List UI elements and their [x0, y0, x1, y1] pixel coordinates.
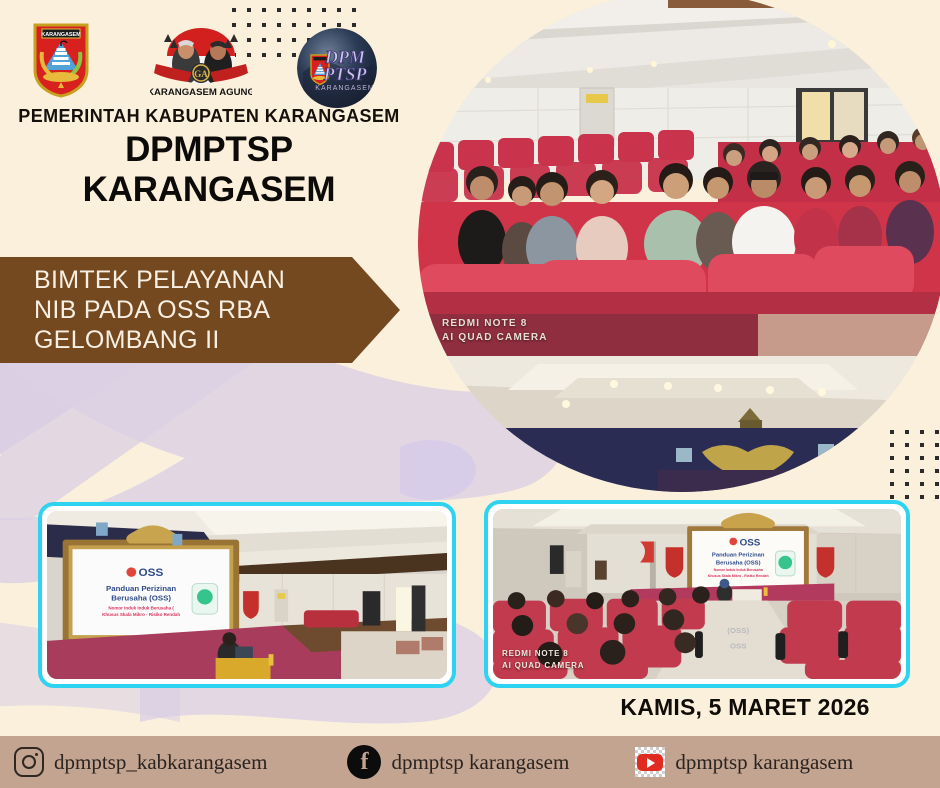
event-date: KAMIS, 5 MARET 2026 [560, 694, 930, 721]
svg-text:OSS: OSS [740, 537, 761, 548]
organization-title: DPMPTSP KARANGASEM [0, 130, 418, 210]
svg-text:PTSP: PTSP [323, 64, 368, 84]
svg-text:GA: GA [194, 69, 208, 79]
instagram-handle: dpmptsp_kabkarangasem [54, 750, 267, 775]
social-instagram[interactable]: dpmptsp_kabkarangasem [14, 736, 267, 788]
svg-text:(OSS): (OSS) [727, 626, 749, 635]
left-slide-brand: OSS [138, 566, 163, 579]
hero-photo: REDMI NOTE 8 AI QUAD CAMERA AD CAMERA [418, 0, 940, 492]
svg-text:Nomor Induk Induk Berusaha (: Nomor Induk Induk Berusaha ( [108, 605, 174, 610]
dpmptsp-logo-icon: DPM PTSP KARANGASEM [297, 28, 377, 108]
poster-canvas: KARANGASEM [0, 0, 940, 788]
svg-text:Khusus Skala Mikro - Risiko Re: Khusus Skala Mikro - Risiko Rendah [708, 574, 769, 578]
youtube-icon [635, 747, 665, 777]
svg-text:KARANGASEM: KARANGASEM [41, 32, 81, 38]
social-youtube[interactable]: dpmptsp karangasem [635, 736, 853, 788]
social-footer: dpmptsp_kabkarangasem f dpmptsp karangas… [0, 736, 940, 788]
hero-watermark-line1: REDMI NOTE 8 [442, 318, 528, 329]
thumbnail-left-image: OSS Panduan Perizinan Berusaha (OSS) Nom… [47, 511, 447, 679]
instagram-icon [14, 747, 44, 777]
thumbnail-presentation-screen: OSS Panduan Perizinan Berusaha (OSS) Nom… [38, 502, 456, 688]
event-title-line-3: GELOMBANG II [34, 325, 285, 355]
facebook-icon: f [347, 745, 381, 779]
right-thumb-watermark-line1: REDMI NOTE 8 [502, 649, 569, 658]
svg-text:Berusaha (OSS): Berusaha (OSS) [716, 560, 761, 566]
event-title-line-1: BIMTEK PELAYANAN [34, 265, 285, 295]
social-facebook[interactable]: f dpmptsp karangasem [347, 736, 569, 788]
hero-watermark-line2: AI QUAD CAMERA [442, 332, 548, 343]
karangasem-regency-crest-icon: KARANGASEM [32, 22, 90, 98]
logo-row: KARANGASEM [0, 8, 420, 104]
svg-text:Khusus Skala Mikro - Risiko Re: Khusus Skala Mikro - Risiko Rendah [102, 612, 180, 617]
event-title-banner: BIMTEK PELAYANAN NIB PADA OSS RBA GELOMB… [0, 257, 400, 363]
government-title: PEMERINTAH KABUPATEN KARANGASEM [0, 106, 418, 127]
hero-watermark-top: AD CAMERA [452, 0, 524, 7]
facebook-handle: dpmptsp karangasem [391, 750, 569, 775]
right-thumb-watermark-line2: AI QUAD CAMERA [502, 661, 584, 670]
thumbnail-hall-audience: OSS Panduan Perizinan Berusaha (OSS) Nom… [484, 500, 910, 688]
svg-text:Panduan Perizinan: Panduan Perizinan [712, 553, 765, 559]
event-title-line-2: NIB PADA OSS RBA [34, 295, 285, 325]
event-title-text: BIMTEK PELAYANAN NIB PADA OSS RBA GELOMB… [0, 265, 285, 355]
agung-logo-label: KARANGASEM AGUNG [150, 87, 252, 98]
youtube-handle: dpmptsp karangasem [675, 750, 853, 775]
svg-text:OSS: OSS [730, 642, 747, 651]
svg-text:Berusaha (OSS): Berusaha (OSS) [111, 594, 171, 603]
svg-text:KARANGASEM: KARANGASEM [315, 85, 374, 92]
svg-text:Nomor Induk Induk Berusaha: Nomor Induk Induk Berusaha [714, 568, 763, 572]
karangasem-agung-logo-icon: GA KARANGASEM AGUNG [150, 24, 252, 98]
svg-text:Panduan Perizinan: Panduan Perizinan [106, 584, 176, 593]
